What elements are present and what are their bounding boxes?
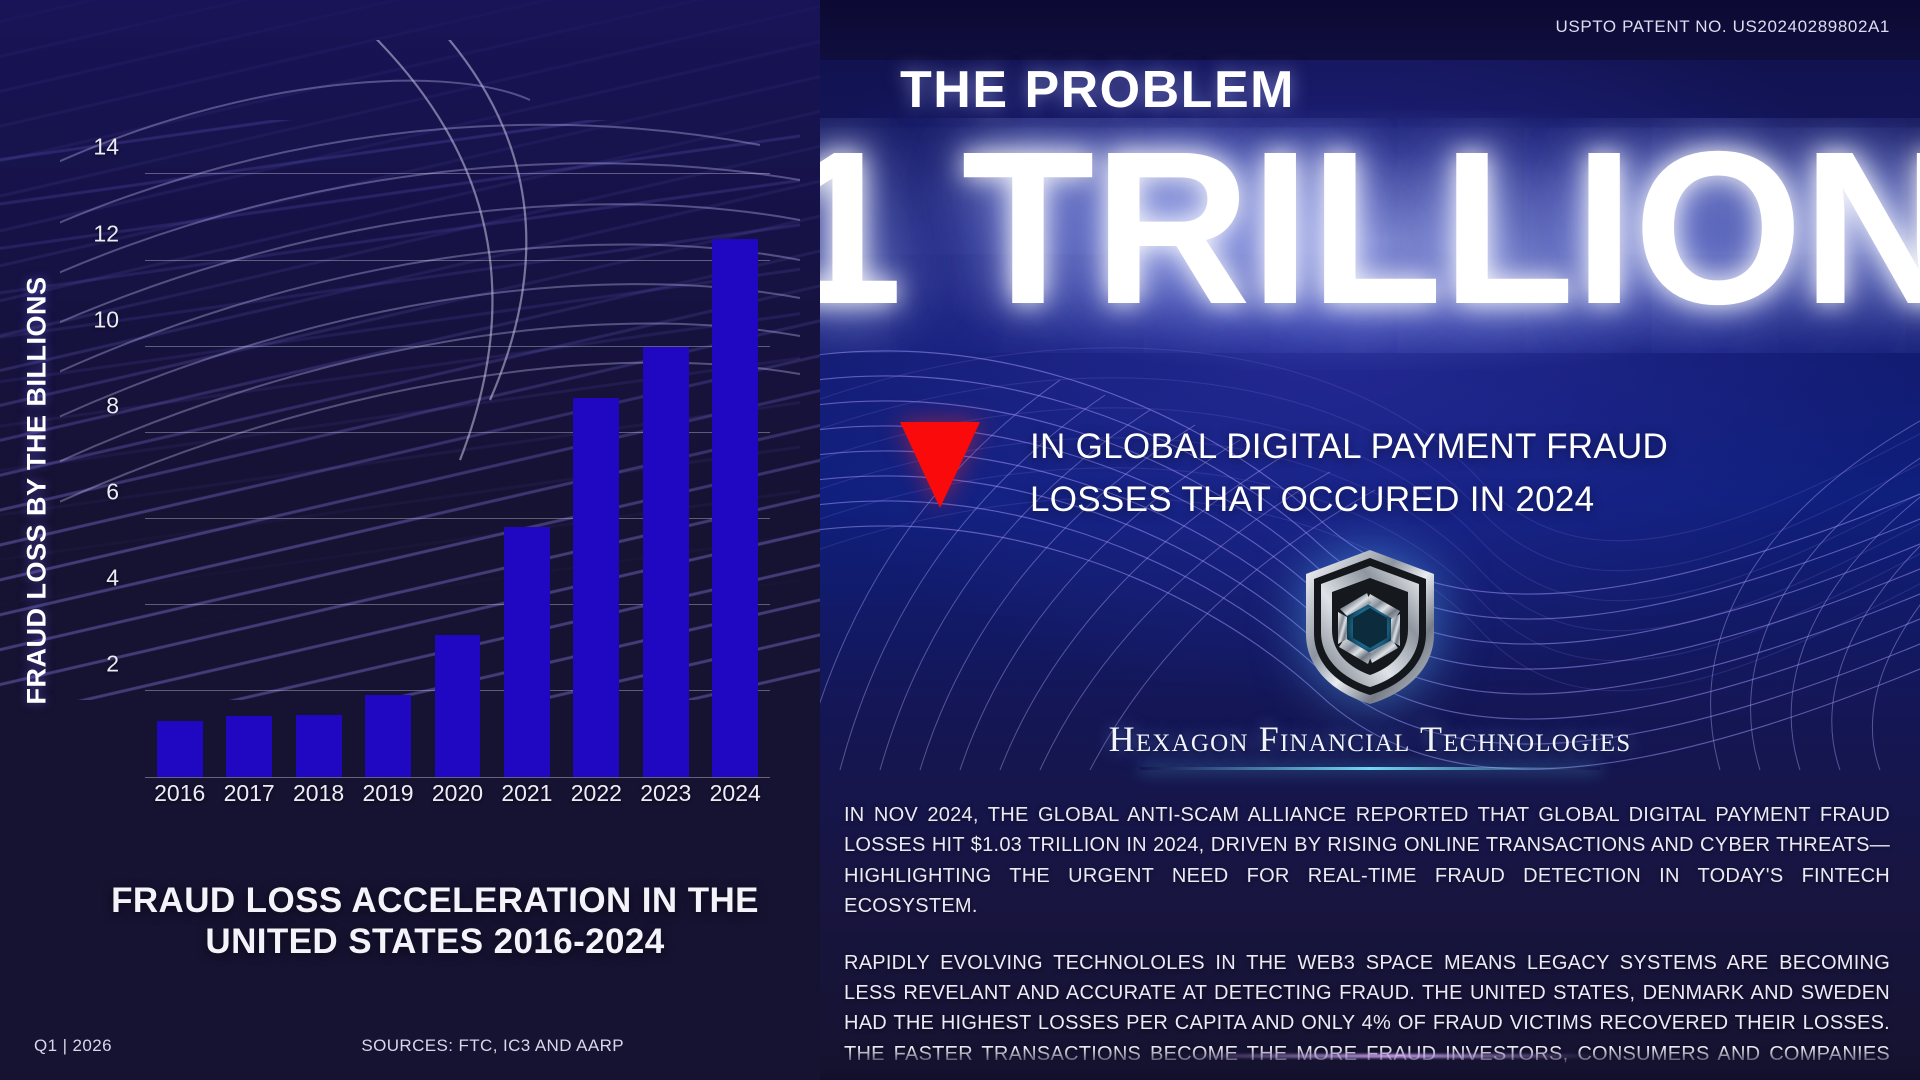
problem-panel: USPTO PATENT NO. US20240289802A1 THE PRO… bbox=[820, 0, 1920, 1080]
y-axis-title-text: FRAUD LOSS BY THE BILLIONS bbox=[22, 276, 53, 704]
headline-wrapper: 1 TRILLION bbox=[820, 118, 1920, 353]
y-axis-tick-label: 10 bbox=[93, 306, 119, 333]
bar bbox=[643, 347, 689, 777]
bar bbox=[504, 527, 550, 777]
y-axis-tick-label: 4 bbox=[106, 564, 119, 591]
hexagon-shield-logo-icon bbox=[1300, 548, 1440, 706]
x-axis-tick-label: 2019 bbox=[353, 780, 422, 814]
x-axis-tick-label: 2021 bbox=[492, 780, 561, 814]
x-axis-tick-label: 2023 bbox=[631, 780, 700, 814]
body-copy: IN NOV 2024, THE GLOBAL ANTI-SCAM ALLIAN… bbox=[820, 800, 1920, 1080]
quarter-label: Q1 | 2026 bbox=[34, 1036, 112, 1056]
bar bbox=[226, 716, 272, 777]
subtitle-line-2: LOSSES THAT OCCURED IN 2024 bbox=[1030, 473, 1668, 526]
x-axis-tick-label: 2024 bbox=[701, 780, 770, 814]
section-eyebrow: THE PROBLEM bbox=[900, 60, 1295, 120]
y-axis-tick-label: 6 bbox=[106, 478, 119, 505]
bar-slot bbox=[353, 140, 422, 777]
brand-block: Hexagon Financial Technologies bbox=[820, 548, 1920, 770]
bar bbox=[157, 721, 203, 777]
bottom-glow-decoration bbox=[1180, 1054, 1600, 1058]
y-axis-tick-label: 12 bbox=[93, 220, 119, 247]
headline-amount: 1 TRILLION bbox=[820, 118, 1920, 340]
x-axis-tick-label: 2016 bbox=[145, 780, 214, 814]
chart-panel: FRAUD LOSS BY THE BILLIONS 02468101214 2… bbox=[0, 0, 820, 1080]
infographic-root: FRAUD LOSS BY THE BILLIONS 02468101214 2… bbox=[0, 0, 1920, 1080]
bar bbox=[365, 695, 411, 777]
y-axis-tick-label: 14 bbox=[93, 134, 119, 161]
chart-title: FRAUD LOSS ACCELERATION IN THE UNITED ST… bbox=[95, 880, 775, 963]
bar-slot bbox=[562, 140, 631, 777]
subtitle-text: IN GLOBAL DIGITAL PAYMENT FRAUD LOSSES T… bbox=[1030, 420, 1668, 526]
subtitle-line-1: IN GLOBAL DIGITAL PAYMENT FRAUD bbox=[1030, 420, 1668, 473]
y-axis-tick-label: 8 bbox=[106, 392, 119, 419]
x-axis-tick-label: 2020 bbox=[423, 780, 492, 814]
patent-number: USPTO PATENT NO. US20240289802A1 bbox=[1556, 17, 1891, 37]
bar-slot bbox=[423, 140, 492, 777]
bar bbox=[712, 239, 758, 777]
chart-title-line-1: FRAUD LOSS ACCELERATION IN THE bbox=[95, 880, 775, 921]
y-axis-tick-label: 0 bbox=[106, 737, 119, 764]
red-down-triangle-icon bbox=[900, 422, 980, 508]
x-axis-tick-label: 2018 bbox=[284, 780, 353, 814]
x-axis-tick-label: 2017 bbox=[214, 780, 283, 814]
bar bbox=[435, 635, 481, 777]
plot-area: 02468101214 bbox=[145, 140, 770, 778]
bar-slot bbox=[145, 140, 214, 777]
bar-slot bbox=[631, 140, 700, 777]
x-axis-tick-label: 2022 bbox=[562, 780, 631, 814]
left-footer: Q1 | 2026 SOURCES: FTC, IC3 AND AARP bbox=[0, 1036, 820, 1056]
body-paragraph-1: IN NOV 2024, THE GLOBAL ANTI-SCAM ALLIAN… bbox=[844, 800, 1890, 922]
bar bbox=[573, 398, 619, 777]
subtitle-row: IN GLOBAL DIGITAL PAYMENT FRAUD LOSSES T… bbox=[900, 420, 1850, 526]
y-axis-tick-label: 2 bbox=[106, 650, 119, 677]
bars-group bbox=[145, 140, 770, 777]
y-axis-title: FRAUD LOSS BY THE BILLIONS bbox=[12, 280, 62, 700]
brand-name: Hexagon Financial Technologies bbox=[1109, 718, 1632, 760]
bottom-bar-decoration bbox=[820, 1048, 1920, 1080]
brand-underline-decoration bbox=[1140, 767, 1600, 770]
bar-slot bbox=[492, 140, 561, 777]
bar-slot bbox=[214, 140, 283, 777]
bar-slot bbox=[284, 140, 353, 777]
bar bbox=[296, 715, 342, 777]
x-axis-tick-labels: 201620172018201920202021202220232024 bbox=[145, 780, 770, 814]
sources-label: SOURCES: FTC, IC3 AND AARP bbox=[361, 1036, 624, 1056]
bar-slot bbox=[701, 140, 770, 777]
chart-title-line-2: UNITED STATES 2016-2024 bbox=[95, 921, 775, 962]
bar-chart: 02468101214 2016201720182019202020212022… bbox=[95, 140, 770, 820]
